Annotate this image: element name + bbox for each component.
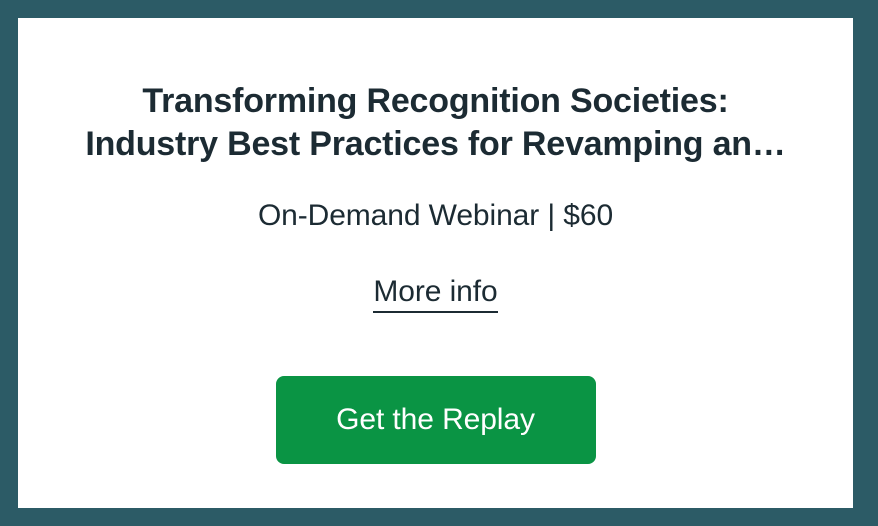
offer-subtitle: On-Demand Webinar | $60 bbox=[18, 198, 853, 234]
page-title: Transforming Recognition Societies: Indu… bbox=[18, 80, 853, 166]
promo-frame: Transforming Recognition Societies: Indu… bbox=[0, 0, 878, 526]
more-info-link-container: More info bbox=[18, 274, 853, 313]
promo-card: Transforming Recognition Societies: Indu… bbox=[18, 18, 853, 508]
more-info-link[interactable]: More info bbox=[373, 274, 497, 313]
get-the-replay-button[interactable]: Get the Replay bbox=[276, 376, 596, 464]
cta-container: Get the Replay bbox=[18, 376, 853, 464]
